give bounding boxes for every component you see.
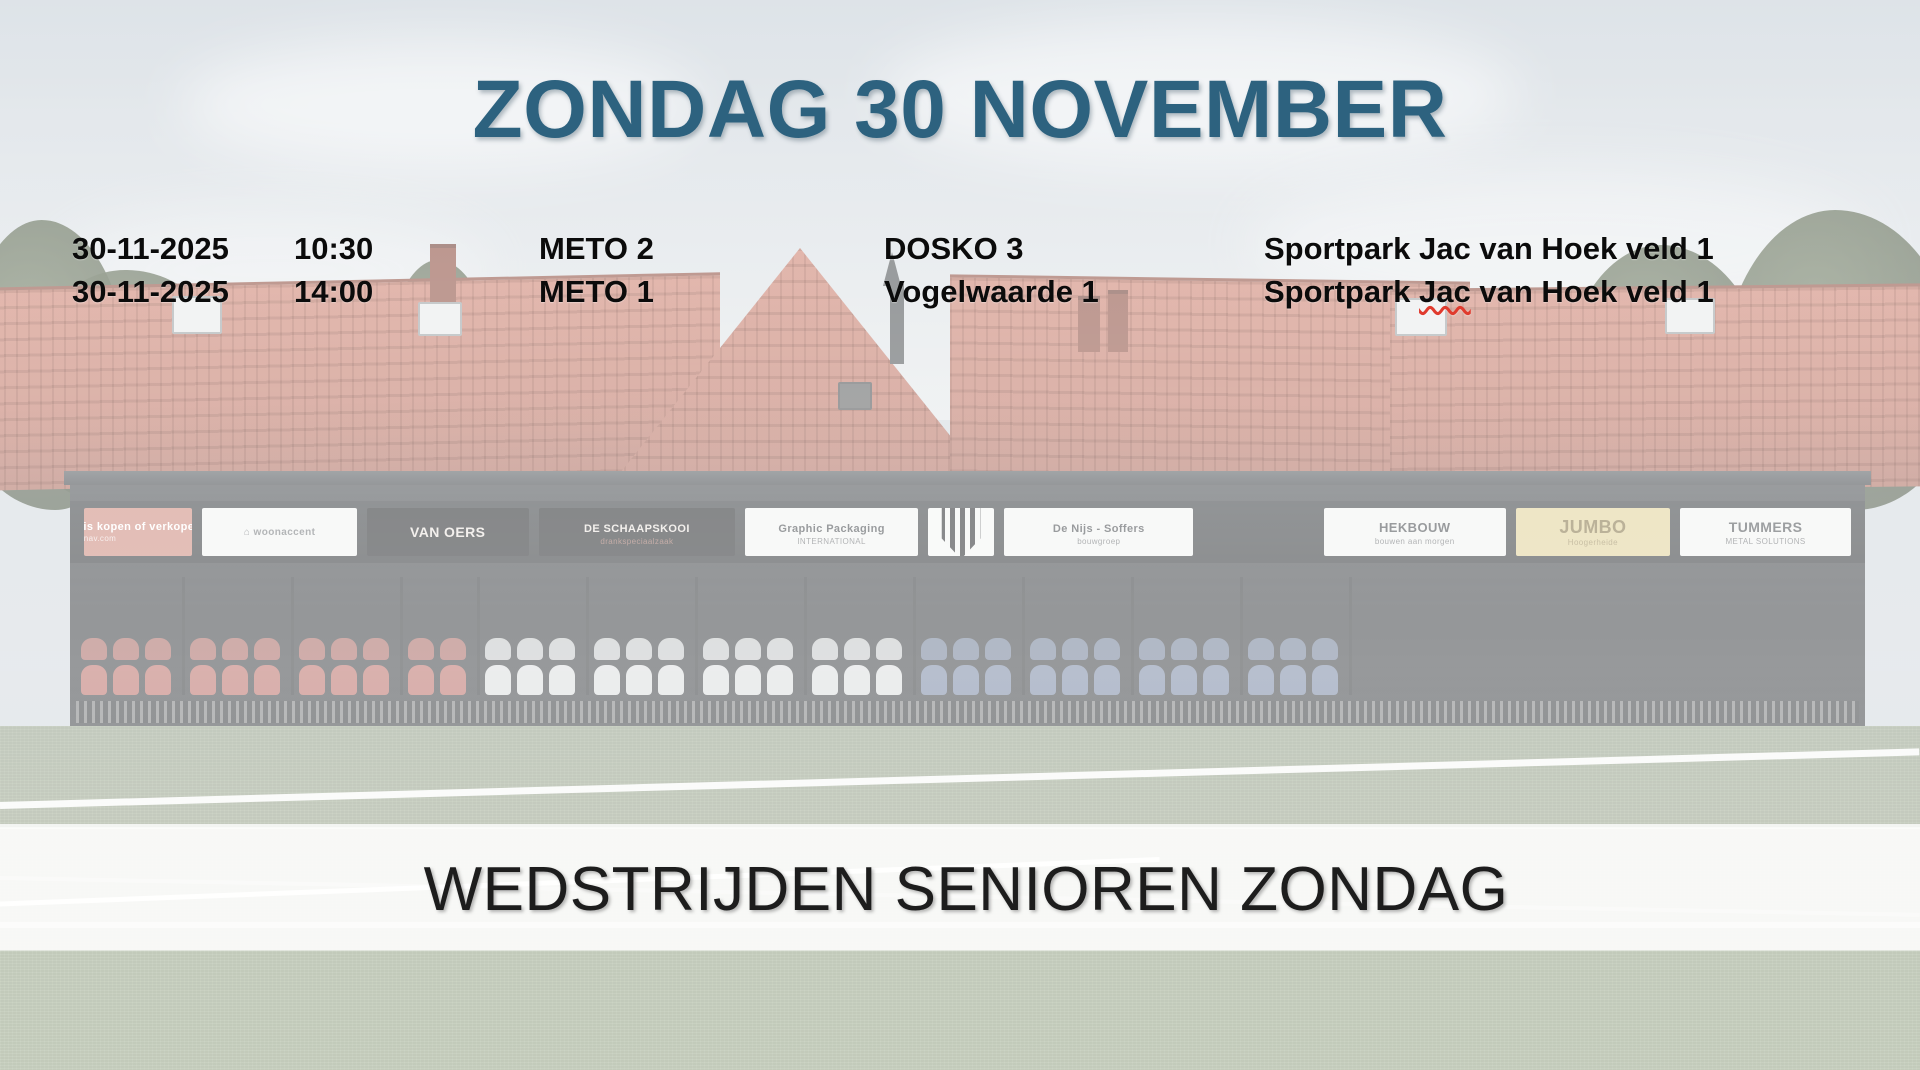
match-poster: Huis kopen of verkopen? woonav.com ⌂ woo…: [0, 0, 1920, 1070]
fixture-date: 30-11-2025: [72, 271, 294, 314]
fixture-venue: Sportpark Jac van Hoek veld 1: [1264, 228, 1864, 271]
page-title: ZONDAG 30 NOVEMBER: [0, 67, 1920, 153]
fixture-home-team: METO 2: [539, 228, 884, 271]
fixture-time: 10:30: [294, 228, 539, 271]
poster-content: ZONDAG 30 NOVEMBER 30-11-2025 10:30 METO…: [0, 0, 1920, 1070]
venue-rest: van Hoek veld 1: [1471, 274, 1714, 309]
fixture-row: 30-11-2025 10:30 METO 2 DOSKO 3 Sportpar…: [72, 228, 1864, 271]
fixture-away-team: DOSKO 3: [884, 228, 1264, 271]
banner-title: WEDSTRIJDEN SENIOREN ZONDAG: [0, 854, 1920, 925]
venue-prefix: Sportpark: [1264, 231, 1419, 266]
bottom-banner: WEDSTRIJDEN SENIOREN ZONDAG: [0, 828, 1920, 950]
fixture-home-team: METO 1: [539, 271, 884, 314]
fixture-date: 30-11-2025: [72, 228, 294, 271]
fixture-venue: Sportpark Jac van Hoek veld 1: [1264, 271, 1864, 314]
fixture-time: 14:00: [294, 271, 539, 314]
venue-rest: van Hoek veld 1: [1471, 231, 1714, 266]
fixture-away-team: Vogelwaarde 1: [884, 271, 1264, 314]
spellcheck-word: Jac: [1419, 274, 1471, 309]
fixture-list: 30-11-2025 10:30 METO 2 DOSKO 3 Sportpar…: [72, 228, 1864, 314]
fixture-row: 30-11-2025 14:00 METO 1 Vogelwaarde 1 Sp…: [72, 271, 1864, 314]
venue-suffix: Jac: [1419, 231, 1471, 266]
venue-prefix: Sportpark: [1264, 274, 1419, 309]
